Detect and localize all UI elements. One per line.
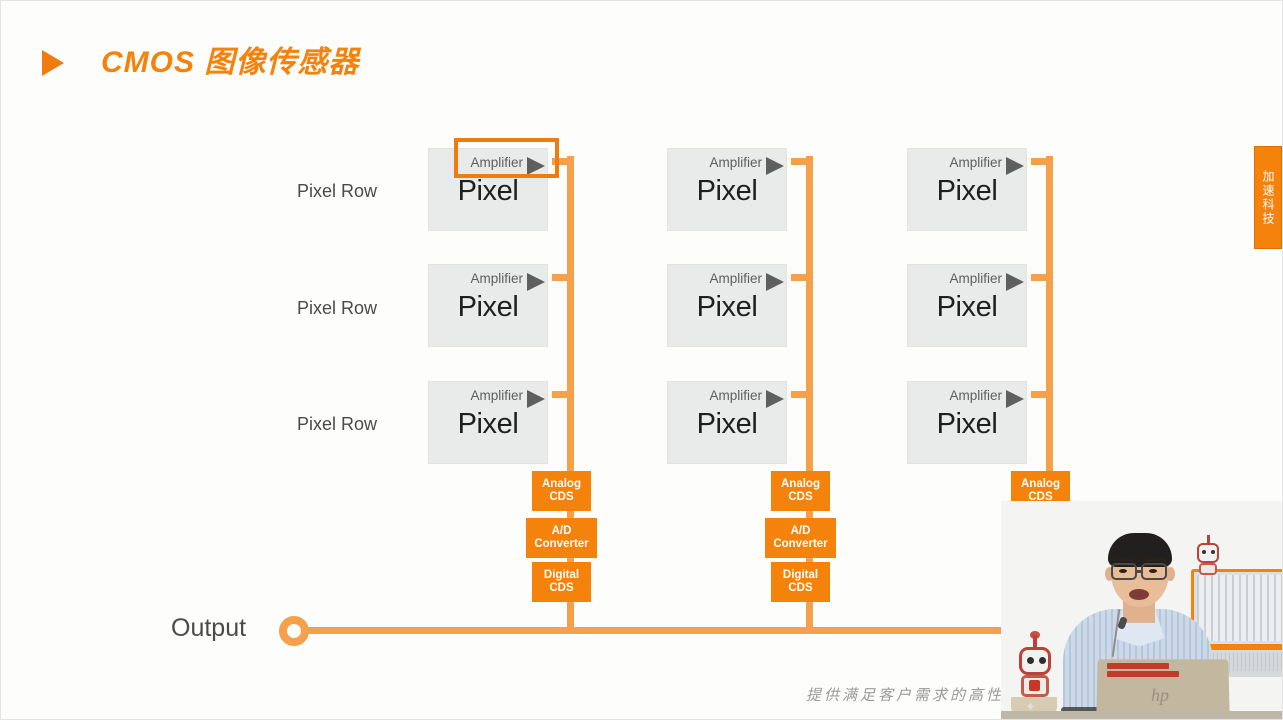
presenter-glasses-bridge: [1137, 570, 1142, 573]
desk-surface: [1001, 711, 1283, 720]
column-3-stub-row1: [1031, 158, 1049, 165]
pixel-label: Pixel: [668, 291, 786, 324]
column-1-stub-row2: [552, 274, 570, 281]
output-label: Output: [171, 614, 246, 643]
amplifier-label: Amplifier: [949, 271, 1002, 286]
triangle-right-icon: [1006, 273, 1024, 291]
laptop-sticker-line-1: [1107, 663, 1169, 669]
desk-robot-eye-left: [1027, 657, 1034, 664]
pixel-cell-r1c2[interactable]: Amplifier Pixel: [667, 148, 787, 231]
presenter-video-overlay[interactable]: hp ✦: [1001, 501, 1283, 720]
amplifier-label: Amplifier: [949, 155, 1002, 170]
digital-cds-block-c2[interactable]: Digital CDS: [771, 562, 830, 602]
presenter-eye-left: [1119, 569, 1127, 573]
pixel-label: Pixel: [429, 408, 547, 441]
pixel-cell-r3c2[interactable]: Amplifier Pixel: [667, 381, 787, 464]
footer-slogan: 提供满足客户需求的高性价: [806, 684, 1022, 705]
column-2-stub-row2: [791, 274, 809, 281]
triangle-right-icon: [766, 157, 784, 175]
column-2-stub-row1: [791, 158, 809, 165]
column-3-stub-row3: [1031, 391, 1049, 398]
pixel-label: Pixel: [668, 175, 786, 208]
pixel-label: Pixel: [429, 175, 547, 208]
ad-converter-block-c1[interactable]: A/D Converter: [526, 518, 597, 558]
pixel-cell-r3c1[interactable]: Amplifier Pixel: [428, 381, 548, 464]
pixel-cell-r2c2[interactable]: Amplifier Pixel: [667, 264, 787, 347]
triangle-right-icon: [527, 390, 545, 408]
triangle-right-icon: [1006, 157, 1024, 175]
column-3-stub-row2: [1031, 274, 1049, 281]
rack-slot-lines: [1197, 575, 1282, 641]
pixel-label: Pixel: [429, 291, 547, 324]
triangle-right-icon: [766, 390, 784, 408]
presenter-hair: [1108, 533, 1172, 567]
desk-robot-eye-right: [1039, 657, 1046, 664]
amplifier-label: Amplifier: [709, 388, 762, 403]
amplifier-label: Amplifier: [470, 271, 523, 286]
shelf-robot-eye-left: [1202, 550, 1206, 554]
pixel-label: Pixel: [908, 291, 1026, 324]
laptop-brand-label: hp: [1151, 685, 1169, 706]
row-label-3: Pixel Row: [297, 414, 377, 435]
ad-converter-block-c2[interactable]: A/D Converter: [765, 518, 836, 558]
desk-robot-badge: [1029, 680, 1040, 691]
column-1-stub-row3: [552, 391, 570, 398]
shelf-robot-body: [1199, 563, 1217, 575]
highlight-rectangle: [454, 138, 559, 178]
presenter-eye-right: [1149, 569, 1157, 573]
amplifier-label: Amplifier: [949, 388, 1002, 403]
desk-robot-head: [1019, 647, 1051, 675]
circle-node-icon: [279, 616, 309, 646]
pixel-cell-r1c3[interactable]: Amplifier Pixel: [907, 148, 1027, 231]
brand-side-tab-label: 加速科技: [1255, 170, 1281, 226]
pixel-label: Pixel: [908, 175, 1026, 208]
pixel-label: Pixel: [908, 408, 1026, 441]
analog-cds-block-c2[interactable]: Analog CDS: [771, 471, 830, 511]
row-label-2: Pixel Row: [297, 298, 377, 319]
triangle-right-icon: [527, 273, 545, 291]
triangle-right-icon: [1006, 390, 1024, 408]
presenter-brow-left: [1113, 558, 1135, 561]
slide-canvas: CMOS 图像传感器 Pixel Row Pixel Row Pixel Row…: [0, 0, 1283, 720]
presenter-ear-right: [1166, 567, 1175, 581]
analog-cds-block-c1[interactable]: Analog CDS: [532, 471, 591, 511]
amplifier-label: Amplifier: [470, 388, 523, 403]
amplifier-label: Amplifier: [709, 271, 762, 286]
pixel-label: Pixel: [668, 408, 786, 441]
column-2-stub-row3: [791, 391, 809, 398]
amplifier-label: Amplifier: [709, 155, 762, 170]
presenter-brow-right: [1144, 558, 1166, 561]
laptop-sticker-line-2: [1107, 671, 1179, 677]
pixel-cell-r3c3[interactable]: Amplifier Pixel: [907, 381, 1027, 464]
pixel-cell-r2c1[interactable]: Amplifier Pixel: [428, 264, 548, 347]
brand-side-tab[interactable]: 加速科技: [1254, 146, 1282, 249]
output-bus-line: [294, 627, 1049, 634]
row-label-1: Pixel Row: [297, 181, 377, 202]
digital-cds-block-c1[interactable]: Digital CDS: [532, 562, 591, 602]
pixel-cell-r2c3[interactable]: Amplifier Pixel: [907, 264, 1027, 347]
shelf-robot-eye-right: [1211, 550, 1215, 554]
presenter-mouth: [1129, 589, 1149, 600]
triangle-right-icon: [766, 273, 784, 291]
shelf-robot-head: [1197, 543, 1219, 563]
